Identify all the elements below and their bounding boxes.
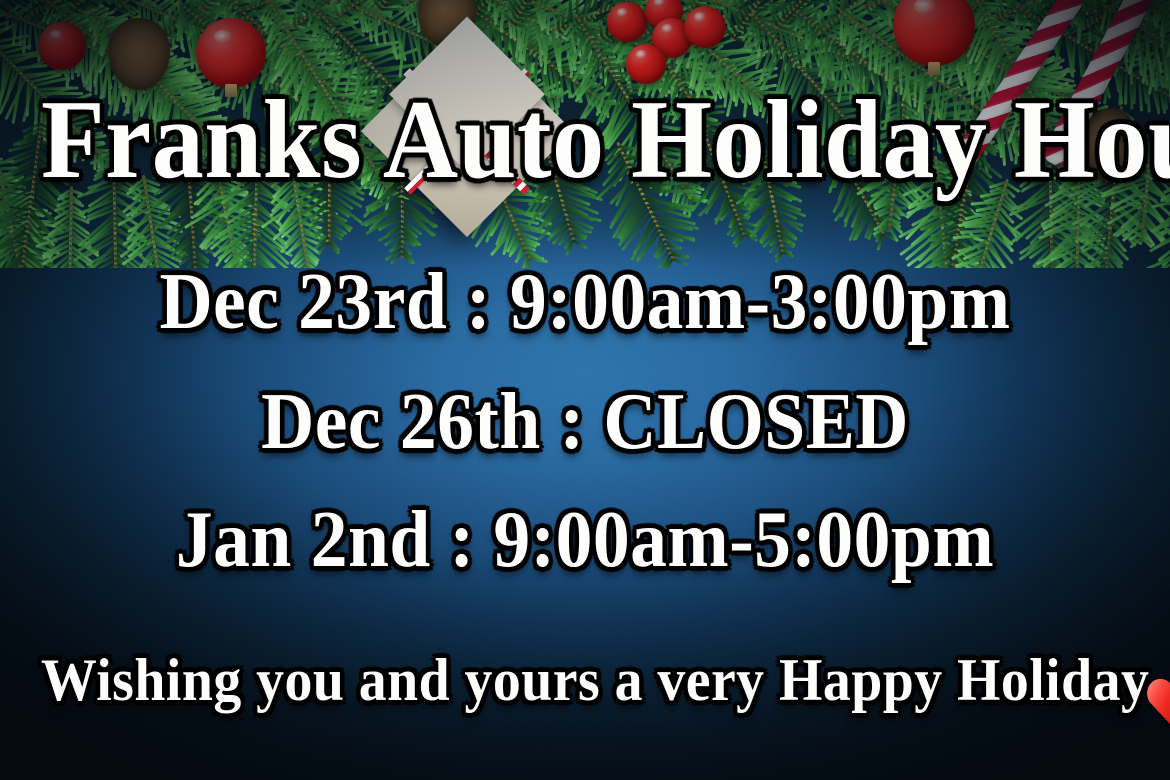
holiday-hours-poster: Franks Auto Holiday Hours Dec 23rd : 9:0… <box>0 0 1170 780</box>
heart-emoji-icon <box>1162 660 1170 706</box>
hours-row-dec-23: Dec 23rd : 9:00am-3:00pm <box>47 262 1123 342</box>
hours-row-dec-26: Dec 26th : CLOSED <box>47 382 1123 462</box>
closing-message-text: Wishing you and yours a very Happy Holid… <box>41 647 1149 713</box>
christmas-ornament-icon <box>38 22 86 70</box>
berry-icon <box>607 2 647 42</box>
page-title: Franks Auto Holiday Hours <box>41 84 1129 196</box>
closing-message-row: Wishing you and yours a very Happy Holid… <box>41 650 1129 710</box>
berry-icon <box>684 6 726 48</box>
hours-row-jan-2: Jan 2nd : 9:00am-5:00pm <box>47 500 1123 580</box>
